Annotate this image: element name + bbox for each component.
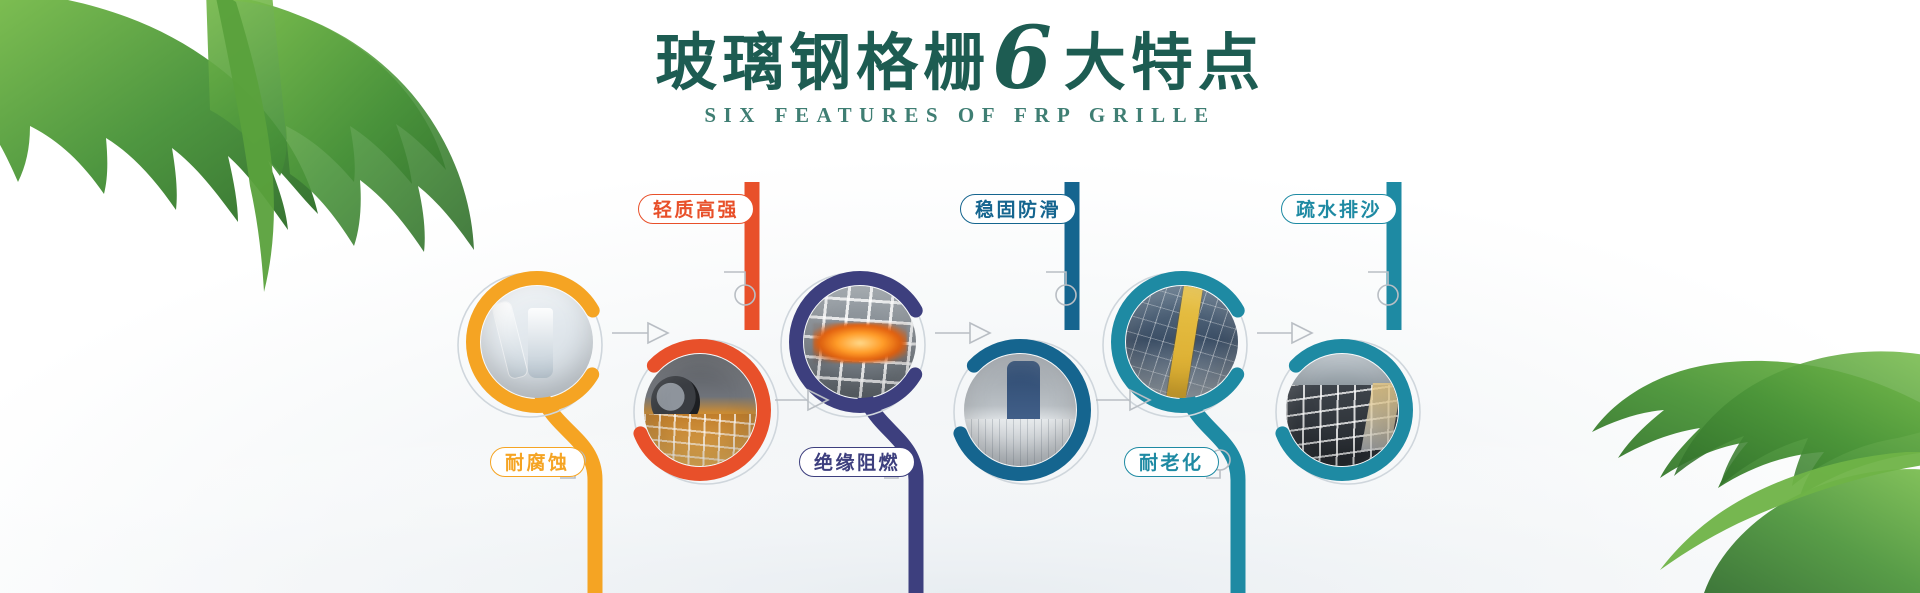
- feature-label-corrosion[interactable]: 耐腐蚀: [490, 447, 585, 477]
- arrow-head-1: [648, 323, 668, 343]
- feature-label-lightweight-text: 轻质高强: [653, 195, 739, 222]
- feature-label-drainage-text: 疏水排沙: [1296, 195, 1382, 222]
- feature-label-aging[interactable]: 耐老化: [1124, 447, 1219, 477]
- feature-flow-diagram: [0, 0, 1920, 593]
- photo-corrosion-laboratory-glassware: [481, 286, 593, 398]
- feature-label-aging-text: 耐老化: [1139, 448, 1204, 475]
- arrow-head-5: [1292, 323, 1312, 343]
- feature-label-insulation[interactable]: 绝缘阻燃: [799, 447, 915, 477]
- leader-lightweight: [724, 272, 745, 285]
- photo-antislip-barefoot-on-grating: [964, 354, 1076, 466]
- feature-label-corrosion-text: 耐腐蚀: [505, 448, 570, 475]
- photo-aging-solar-panel-walkway: [1126, 286, 1238, 398]
- banner-root: 玻璃钢格栅 6 大特点 SIX FEATURES OF FRP GRILLE: [0, 0, 1920, 593]
- photo-drainage-grating-walkway: [1286, 354, 1398, 466]
- leaf-top-left: [0, 0, 474, 292]
- feature-label-drainage[interactable]: 疏水排沙: [1281, 194, 1397, 224]
- feature-label-antislip[interactable]: 稳固防滑: [960, 194, 1076, 224]
- feature-label-insulation-text: 绝缘阻燃: [814, 448, 900, 475]
- photo-lightweight-car-on-grating: [644, 354, 756, 466]
- photo-insulation-flame-retardant-grating: [804, 286, 916, 398]
- feature-label-lightweight[interactable]: 轻质高强: [638, 194, 754, 224]
- arrow-head-3: [970, 323, 990, 343]
- feature-label-antislip-text: 稳固防滑: [975, 195, 1061, 222]
- leader-antislip: [1046, 272, 1066, 285]
- leader-drainage: [1368, 272, 1388, 285]
